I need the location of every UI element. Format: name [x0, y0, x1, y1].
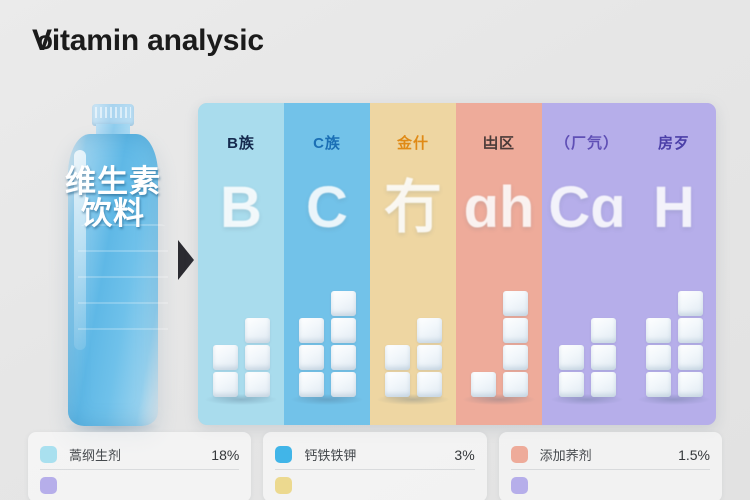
- vitamin-columns-panel: B族BC族C金什冇凷区ɑh（厂氕）Cɑ房歹H: [198, 103, 716, 425]
- cube-bar-chart: [370, 287, 456, 397]
- product-bottle: 维生素饮料: [58, 104, 166, 426]
- vitamin-column-0[interactable]: B族B: [198, 103, 284, 425]
- cube: [417, 372, 442, 397]
- legend-item[interactable]: [511, 470, 710, 500]
- cube-stack-left: [385, 345, 410, 397]
- cube: [503, 291, 528, 316]
- cube: [559, 372, 584, 397]
- cube: [503, 372, 528, 397]
- cube: [471, 372, 496, 397]
- cube-bar-chart: [284, 287, 370, 397]
- legend-item[interactable]: 钙铁铁钾3%: [275, 440, 474, 470]
- cube: [299, 372, 324, 397]
- column-header-label: B族: [227, 132, 255, 153]
- cube: [299, 345, 324, 370]
- vitamin-column-4[interactable]: （厂氕）Cɑ: [542, 103, 632, 425]
- cube-stack-right: [245, 318, 270, 397]
- legend-item[interactable]: [40, 470, 239, 500]
- cube-stack-left: [646, 318, 671, 397]
- cube: [559, 345, 584, 370]
- vitamin-column-1[interactable]: C族C: [284, 103, 370, 425]
- cube: [646, 345, 671, 370]
- cube-stack-right: [331, 291, 356, 397]
- cube-stack-left: [299, 318, 324, 397]
- column-big-letter: C: [284, 179, 370, 237]
- cube-stack-left: [559, 345, 584, 397]
- page-title: Vitamin analysic: [32, 24, 264, 58]
- cube-bar-chart: [632, 287, 716, 397]
- cube: [331, 372, 356, 397]
- cube: [245, 318, 270, 343]
- arrow-right-icon: [178, 240, 194, 280]
- legend-card: 添加荞剂1.5%: [499, 432, 722, 500]
- vitamin-column-5[interactable]: 房歹H: [632, 103, 716, 425]
- page-title-text: itamin analysic: [52, 24, 264, 57]
- legend-value: 3%: [454, 447, 474, 463]
- column-big-letter: H: [632, 179, 716, 237]
- column-big-letter: 冇: [370, 179, 456, 237]
- cube: [213, 345, 238, 370]
- infographic-root: Vitamin analysic 维生素饮料 B族BC族C金什冇凷区ɑh（厂氕）…: [0, 0, 750, 500]
- cube: [331, 318, 356, 343]
- cube: [213, 372, 238, 397]
- column-header-label: C族: [313, 132, 341, 153]
- legend-value: 18%: [211, 447, 239, 463]
- cube: [417, 345, 442, 370]
- column-big-letter: Cɑ: [542, 179, 632, 237]
- legend-color-swatch: [511, 446, 528, 463]
- legend-label: 蒿纲生剂: [69, 445, 121, 464]
- cube: [331, 291, 356, 316]
- cube: [503, 345, 528, 370]
- cube: [385, 372, 410, 397]
- cube: [591, 372, 616, 397]
- column-header-label: （厂氕）: [555, 132, 619, 153]
- cube: [646, 318, 671, 343]
- legend-item[interactable]: [275, 470, 474, 500]
- cube: [245, 345, 270, 370]
- cube: [503, 318, 528, 343]
- cube-stack-left: [471, 372, 496, 397]
- cube: [646, 372, 671, 397]
- bottle-label-text: 维生素饮料: [58, 166, 168, 230]
- bottle-ridges: [78, 224, 168, 344]
- column-header-label: 房歹: [658, 132, 690, 153]
- cube: [245, 372, 270, 397]
- column-big-letter: ɑh: [456, 179, 542, 237]
- cube: [591, 345, 616, 370]
- cube-bar-chart: [198, 287, 284, 397]
- cube: [299, 318, 324, 343]
- legend-card: 蒿纲生剂18%: [28, 432, 251, 500]
- cube-bar-chart: [456, 287, 542, 397]
- legend-color-swatch: [40, 446, 57, 463]
- cube: [417, 318, 442, 343]
- column-big-letter: B: [198, 179, 284, 237]
- cube-stack-right: [678, 291, 703, 397]
- cube: [385, 345, 410, 370]
- column-header-label: 金什: [397, 132, 429, 153]
- cube: [331, 345, 356, 370]
- legend-item[interactable]: 添加荞剂1.5%: [511, 440, 710, 470]
- legend-label: 钙铁铁钾: [304, 445, 356, 464]
- vitamin-column-3[interactable]: 凷区ɑh: [456, 103, 542, 425]
- legend-color-swatch: [275, 446, 292, 463]
- column-header-label: 凷区: [483, 132, 515, 153]
- cube: [678, 345, 703, 370]
- legend: 蒿纲生剂18%钙铁铁钾3%添加荞剂1.5%: [28, 432, 722, 500]
- cube-bar-chart: [542, 287, 632, 397]
- cube: [678, 291, 703, 316]
- bottle-cap-icon: [92, 104, 134, 126]
- cube: [591, 318, 616, 343]
- legend-item[interactable]: 蒿纲生剂18%: [40, 440, 239, 470]
- cube: [678, 372, 703, 397]
- cube-stack-right: [417, 318, 442, 397]
- legend-card: 钙铁铁钾3%: [263, 432, 486, 500]
- cube-stack-right: [591, 318, 616, 397]
- legend-color-swatch: [40, 477, 57, 494]
- cube-stack-left: [213, 345, 238, 397]
- vitamin-column-2[interactable]: 金什冇: [370, 103, 456, 425]
- legend-color-swatch: [275, 477, 292, 494]
- legend-color-swatch: [511, 477, 528, 494]
- title-glitch-char: V: [32, 24, 52, 58]
- legend-label: 添加荞剂: [540, 445, 592, 464]
- cube: [678, 318, 703, 343]
- legend-value: 1.5%: [678, 447, 710, 463]
- cube-stack-right: [503, 291, 528, 397]
